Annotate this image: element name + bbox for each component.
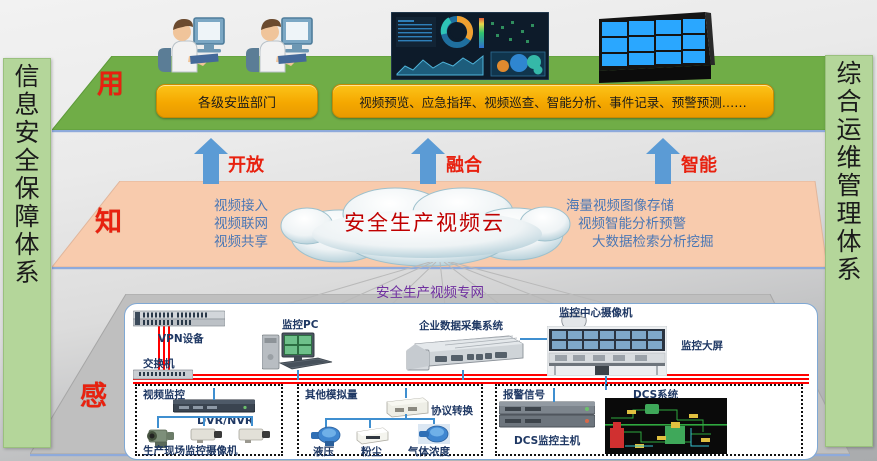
enterprise-dacq-icon [405,332,525,381]
cloud-left-item: 视频联网 [128,216,268,234]
arrow-label-open: 开放 [228,151,264,177]
label-dust: 粉尘 [361,444,382,459]
sidebar-char: 管 [836,172,861,200]
cloud-title: 安全生产视频云 [277,207,572,237]
sidebar-char: 息 [14,91,39,119]
layer-label-sense: 感 [80,374,107,413]
sidebar-char: 合 [836,88,861,116]
label-dcs-host: DCS监控主机 [514,433,580,448]
sidebar-char: 障 [14,203,39,231]
label-protocol-converter: 协议转换 [431,403,473,418]
sidebar-char: 综 [836,60,861,88]
pill-departments[interactable]: 各级安监部门 [156,84,318,118]
link-cam3 [251,416,253,426]
link-conv-bus [405,388,407,398]
cloud-right-item: 大数据检索分析挖掘 [566,234,796,252]
label-switch: 交换机 [143,356,175,371]
layer-label-use: 用 [97,62,124,101]
sense-layer-card: VPN设备 交换机 [124,303,818,460]
link-conv-sensors [325,418,435,420]
label-other-analog: 其他模拟量 [305,387,358,402]
link-dvr-bus [213,388,215,400]
sidebar-char: 系 [14,259,39,287]
cloud-right-item: 视频智能分析预警 [566,216,796,234]
cloud-left-item: 视频共享 [128,234,268,252]
arrow-intelligence-icon [646,138,680,184]
bi-dashboard-screen-icon [391,12,549,80]
label-field-cameras: 生产现场监控摄像机 [143,443,238,458]
dcs-host-icon [499,400,595,435]
sidebar-char: 全 [14,147,39,175]
sidebar-char: 维 [836,144,861,172]
link-monitorpc-bus [297,370,299,380]
arrow-open-icon [194,138,228,184]
sidebar-char: 保 [14,175,39,203]
sidebar-ops-management: 综 合 运 维 管 理 体 系 [825,55,873,447]
label-center-camera: 监控中心摄像机 [559,305,633,320]
cloud-left-item: 视频接入 [128,198,268,216]
link-cam2 [203,416,205,426]
pill-functions[interactable]: 视频预览、应急指挥、视频巡查、智能分析、事件记录、预警预测…… [332,84,774,118]
link-dacq-bus [462,370,464,380]
cloud-right-items: 海量视频图像存储 视频智能分析预警 大数据检索分析挖掘 [566,198,796,251]
label-enterprise-dacq: 企业数据采集系统 [419,318,503,333]
private-network-label: 安全生产视频专网 [300,281,560,301]
label-hydraulic: 液压 [313,444,334,459]
cloud-right-item: 海量视频图像存储 [566,198,796,216]
arrow-label-convergence: 融合 [446,151,482,177]
sidebar-char: 安 [14,119,39,147]
sidebar-char: 运 [836,116,861,144]
sidebar-info-security: 信 息 安 全 保 障 体 系 [3,58,51,448]
monitor-wall-icon [547,326,667,381]
arrow-label-intelligence: 智能 [681,151,717,177]
link-conv-down [405,414,407,420]
label-monitor-pc: 监控PC [282,317,318,332]
operator-at-computer-icon [240,12,318,74]
operator-at-computer-icon [152,12,230,74]
sidebar-char: 信 [14,63,39,91]
arrow-convergence-icon [411,138,445,184]
layer-label-know: 知 [95,200,122,239]
link-dcshost-bus [553,388,555,402]
led-video-wall-icon [593,9,717,83]
sidebar-char: 体 [836,228,861,256]
sidebar-char: 系 [836,256,861,284]
label-gas: 气体浓度 [408,444,450,459]
link-dvr-cams-bus [157,416,253,418]
label-monitor-wall: 监控大屏 [681,338,723,353]
cloud-left-items: 视频接入 视频联网 视频共享 [128,198,268,251]
box-camera-icon [235,426,271,449]
label-vpn-device: VPN设备 [158,331,204,346]
sidebar-char: 理 [836,200,861,228]
diagram-canvas: 用 知 感 信 息 安 全 保 障 体 系 综 合 运 维 管 理 体 系 [0,0,877,461]
dcs-system-screen-icon [605,398,727,454]
sidebar-char: 体 [14,231,39,259]
